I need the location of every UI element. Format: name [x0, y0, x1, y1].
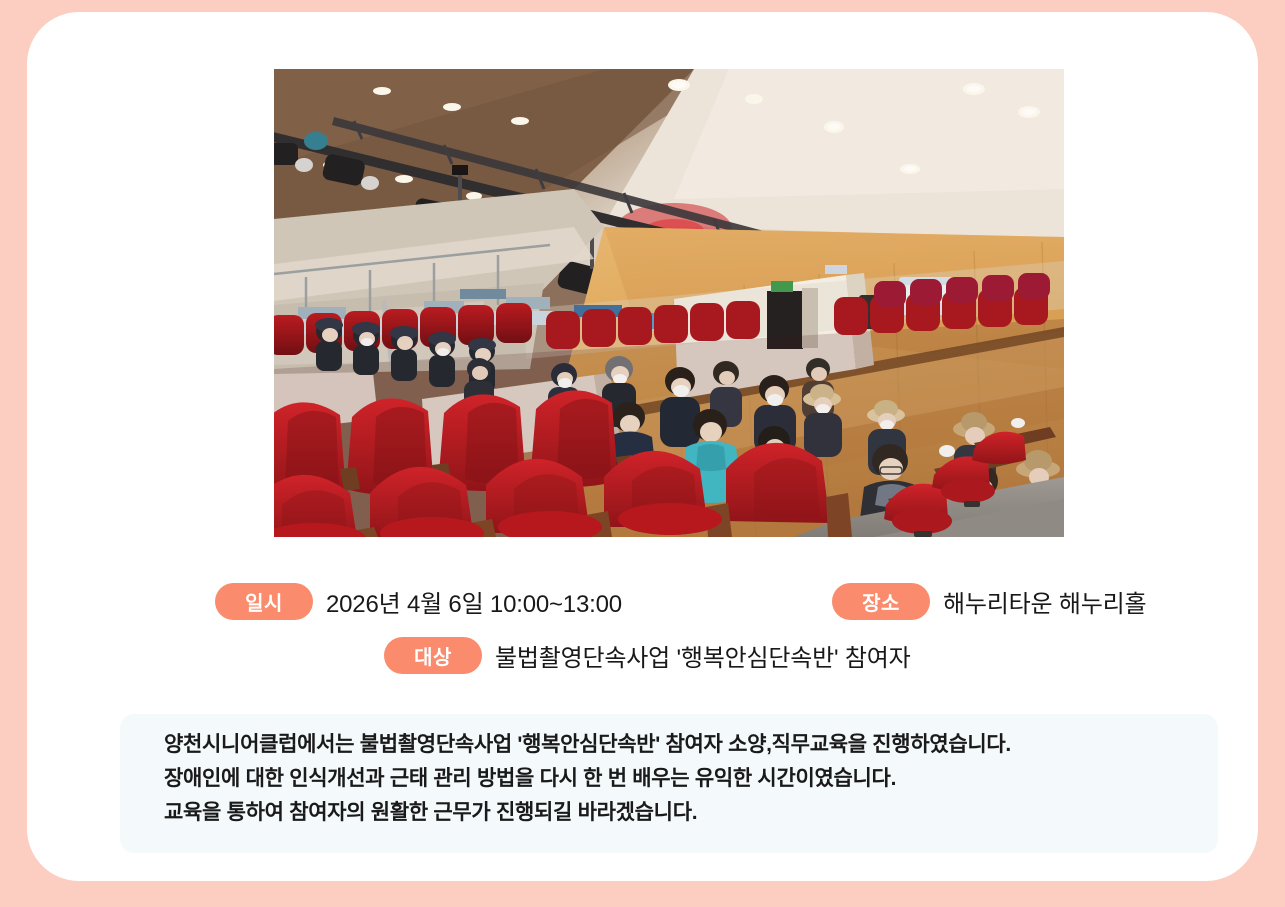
- info-row-date: 일시 2026년 4월 6일 10:00~13:00: [215, 583, 622, 620]
- content-card: 일시 2026년 4월 6일 10:00~13:00 장소 해누리타운 해누리홀…: [27, 12, 1258, 881]
- description-line: 교육을 통하여 참여자의 원활한 근무가 진행되길 바라겠습니다.: [164, 796, 1218, 830]
- badge-date: 일시: [215, 583, 313, 620]
- poster-root: 일시 2026년 4월 6일 10:00~13:00 장소 해누리타운 해누리홀…: [0, 0, 1285, 907]
- auditorium-photo: [274, 69, 1064, 537]
- value-date: 2026년 4월 6일 10:00~13:00: [326, 584, 622, 619]
- value-target: 불법촬영단속사업 '행복안심단속반' 참여자: [495, 638, 911, 673]
- badge-place: 장소: [832, 583, 930, 620]
- description-line: 장애인에 대한 인식개선과 근태 관리 방법을 다시 한 번 배우는 유익한 시…: [164, 762, 1218, 796]
- badge-target: 대상: [384, 637, 482, 674]
- value-place: 해누리타운 해누리홀: [943, 584, 1146, 619]
- info-row-target: 대상 불법촬영단속사업 '행복안심단속반' 참여자: [384, 637, 911, 674]
- description-box: 양천시니어클럽에서는 불법촬영단속사업 '행복안심단속반' 참여자 소양,직무교…: [120, 714, 1218, 853]
- auditorium-photo-graphic: [274, 69, 1064, 537]
- description-line: 양천시니어클럽에서는 불법촬영단속사업 '행복안심단속반' 참여자 소양,직무교…: [164, 728, 1218, 762]
- info-row-place: 장소 해누리타운 해누리홀: [832, 583, 1146, 620]
